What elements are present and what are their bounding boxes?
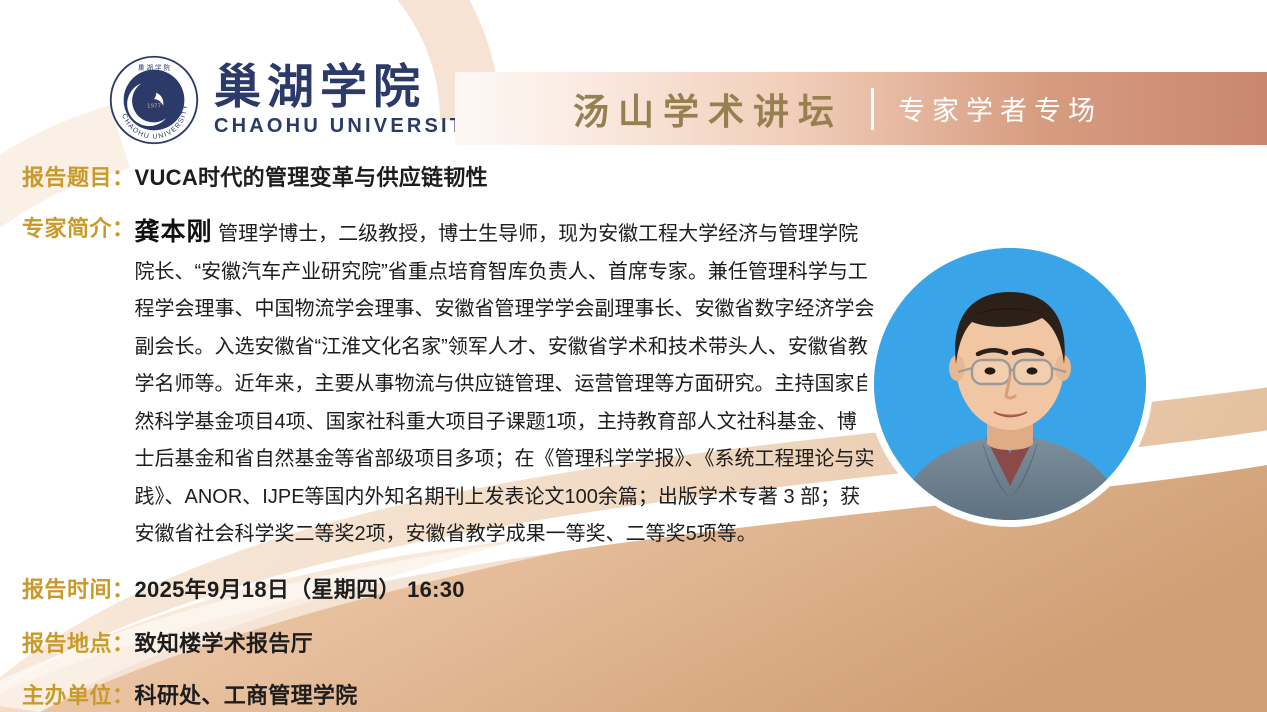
- lecture-time-value: 2025年9月18日（星期四） 16:30: [135, 572, 465, 604]
- speaker-bio-text: 管理学博士，二级教授，博士生导师，现为安徽工程大学经济与管理学院院长、“安徽汽车…: [135, 223, 875, 545]
- lecture-place-row: 报告地点： 致知楼学术报告厅: [22, 626, 313, 658]
- svg-text:巢 湖 学 院: 巢 湖 学 院: [138, 63, 170, 72]
- lecture-time-row: 报告时间： 2025年9月18日（星期四） 16:30: [22, 572, 465, 604]
- lecture-title-label: 报告题目：: [22, 160, 135, 192]
- university-seal-icon: 1977 巢 湖 学 院 CHAOHU UNIVERSITY: [108, 54, 200, 146]
- portrait-illustration: [874, 248, 1146, 520]
- lecture-title-value: VUCA时代的管理变革与供应链韧性: [135, 160, 488, 192]
- poster-header: 1977 巢 湖 学 院 CHAOHU UNIVERSITY 巢湖学院 CHAO…: [0, 0, 1267, 150]
- banner-main-title: 汤山学术讲坛: [573, 83, 843, 135]
- lecture-title-row: 报告题目： VUCA时代的管理变革与供应链韧性: [22, 160, 488, 192]
- banner-divider: [871, 88, 874, 130]
- banner-subtitle: 专家学者专场: [898, 89, 1102, 128]
- university-wordmark: 巢湖学院 CHAOHU UNIVERSITY: [214, 64, 482, 139]
- poster-canvas: 1977 巢 湖 学 院 CHAOHU UNIVERSITY 巢湖学院 CHAO…: [0, 0, 1267, 712]
- lecture-place-value: 致知楼学术报告厅: [135, 626, 313, 658]
- university-logo: 1977 巢 湖 学 院 CHAOHU UNIVERSITY 巢湖学院 CHAO…: [108, 54, 482, 146]
- lecture-time-label: 报告时间：: [22, 572, 135, 604]
- speaker-portrait: [874, 248, 1146, 520]
- speaker-bio-body: 龚本刚 管理学博士，二级教授，博士生导师，现为安徽工程大学经济与管理学院院长、“…: [135, 212, 875, 554]
- lecture-series-banner: 汤山学术讲坛 专家学者专场: [455, 72, 1267, 145]
- lecture-place-label: 报告地点：: [22, 626, 135, 658]
- speaker-name: 龚本刚: [135, 218, 213, 246]
- speaker-bio-row: 专家简介： 龚本刚 管理学博士，二级教授，博士生导师，现为安徽工程大学经济与管理…: [22, 212, 882, 554]
- university-name-en: CHAOHU UNIVERSITY: [214, 115, 482, 138]
- lecture-host-label: 主办单位：: [22, 678, 135, 710]
- seal-icon: 1977 巢 湖 学 院 CHAOHU UNIVERSITY: [108, 54, 200, 146]
- lecture-host-value: 科研处、工商管理学院: [135, 678, 358, 710]
- speaker-bio-label: 专家简介：: [22, 212, 135, 246]
- svg-text:1977: 1977: [147, 103, 162, 109]
- lecture-host-row: 主办单位： 科研处、工商管理学院: [22, 678, 358, 710]
- university-name-cn: 巢湖学院: [214, 64, 482, 112]
